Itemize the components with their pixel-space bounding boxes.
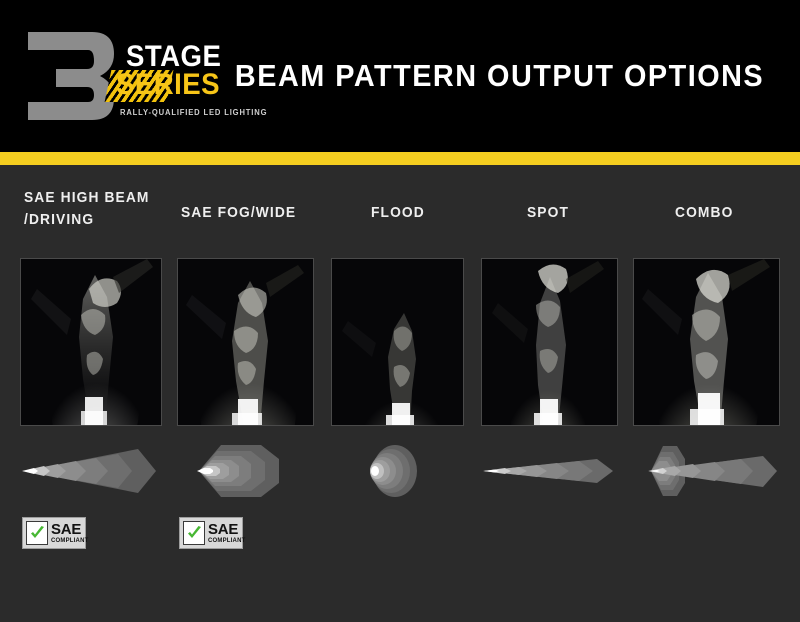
sae-badge-main: SAE [51,522,88,537]
sae-badge-sub: COMPLIANT [208,538,245,544]
beam-diagram-combo [633,443,780,499]
page-title-text: BEAM PATTERN OUTPUT OPTIONS [235,58,764,94]
beam-diagram-flood [331,443,464,499]
column-label: SAE FOG/WIDE [181,202,333,224]
sae-badge-main: SAE [208,522,245,537]
green-check-icon [26,521,48,545]
columns-container: SAE HIGH BEAM /DRIVING [0,165,800,585]
column-label: FLOOD [371,202,523,224]
beam-photo-flood [331,258,464,426]
page-title: BEAM PATTERN OUTPUT OPTIONS [0,0,800,152]
beam-photo-spot [481,258,618,426]
beam-diagram-fog-wide [177,443,314,499]
beam-pattern-infographic: STAGE SERIES RALLY-QUALIFIED LED LIGHTIN… [0,0,800,622]
sae-badge-sub: COMPLIANT [51,538,88,544]
sae-compliant-badge: SAE COMPLIANT [179,517,243,549]
beam-diagram-driving [20,443,162,499]
accent-divider [0,152,800,165]
column-label: COMBO [675,202,800,224]
beam-photo-driving [20,258,162,426]
beam-photo-fog-wide [177,258,314,426]
sae-badge-text: SAE COMPLIANT [208,522,245,544]
column-label: SAE HIGH BEAM /DRIVING [24,187,176,231]
beam-photo-combo [633,258,780,426]
header-bar: STAGE SERIES RALLY-QUALIFIED LED LIGHTIN… [0,0,800,152]
sae-badge-text: SAE COMPLIANT [51,522,88,544]
green-check-icon [183,521,205,545]
sae-compliant-badge: SAE COMPLIANT [22,517,86,549]
beam-diagram-spot [481,443,618,499]
column-label: SPOT [527,202,679,224]
